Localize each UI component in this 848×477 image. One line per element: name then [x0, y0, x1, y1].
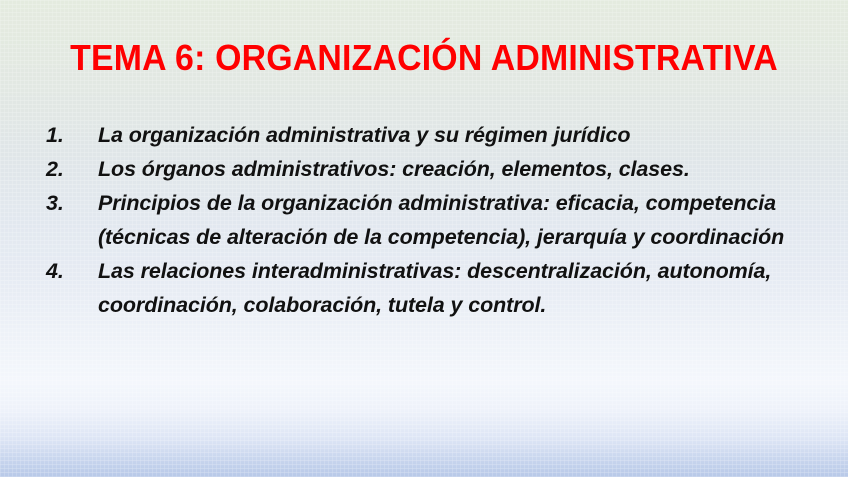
topic-list: 1. La organización administrativa y su r…: [44, 118, 834, 322]
slide-title: TEMA 6: ORGANIZACIÓN ADMINISTRATIVA: [25, 36, 822, 80]
list-item-number: 2.: [46, 152, 64, 186]
slide: TEMA 6: ORGANIZACIÓN ADMINISTRATIVA 1. L…: [0, 0, 848, 477]
list-item: 1. La organización administrativa y su r…: [44, 118, 834, 152]
list-item-text: Las relaciones interadministrativas: des…: [98, 254, 834, 322]
list-item: 3. Principios de la organización adminis…: [44, 186, 834, 254]
list-item-text: La organización administrativa y su régi…: [98, 118, 834, 152]
list-item: 2. Los órganos administrativos: creación…: [44, 152, 834, 186]
list-item-text: Los órganos administrativos: creación, e…: [98, 152, 834, 186]
list-item-text: Principios de la organización administra…: [98, 186, 834, 254]
list-item-number: 3.: [46, 186, 64, 220]
list-item-number: 4.: [46, 254, 64, 288]
list-item-number: 1.: [46, 118, 64, 152]
list-item: 4. Las relaciones interadministrativas: …: [44, 254, 834, 322]
